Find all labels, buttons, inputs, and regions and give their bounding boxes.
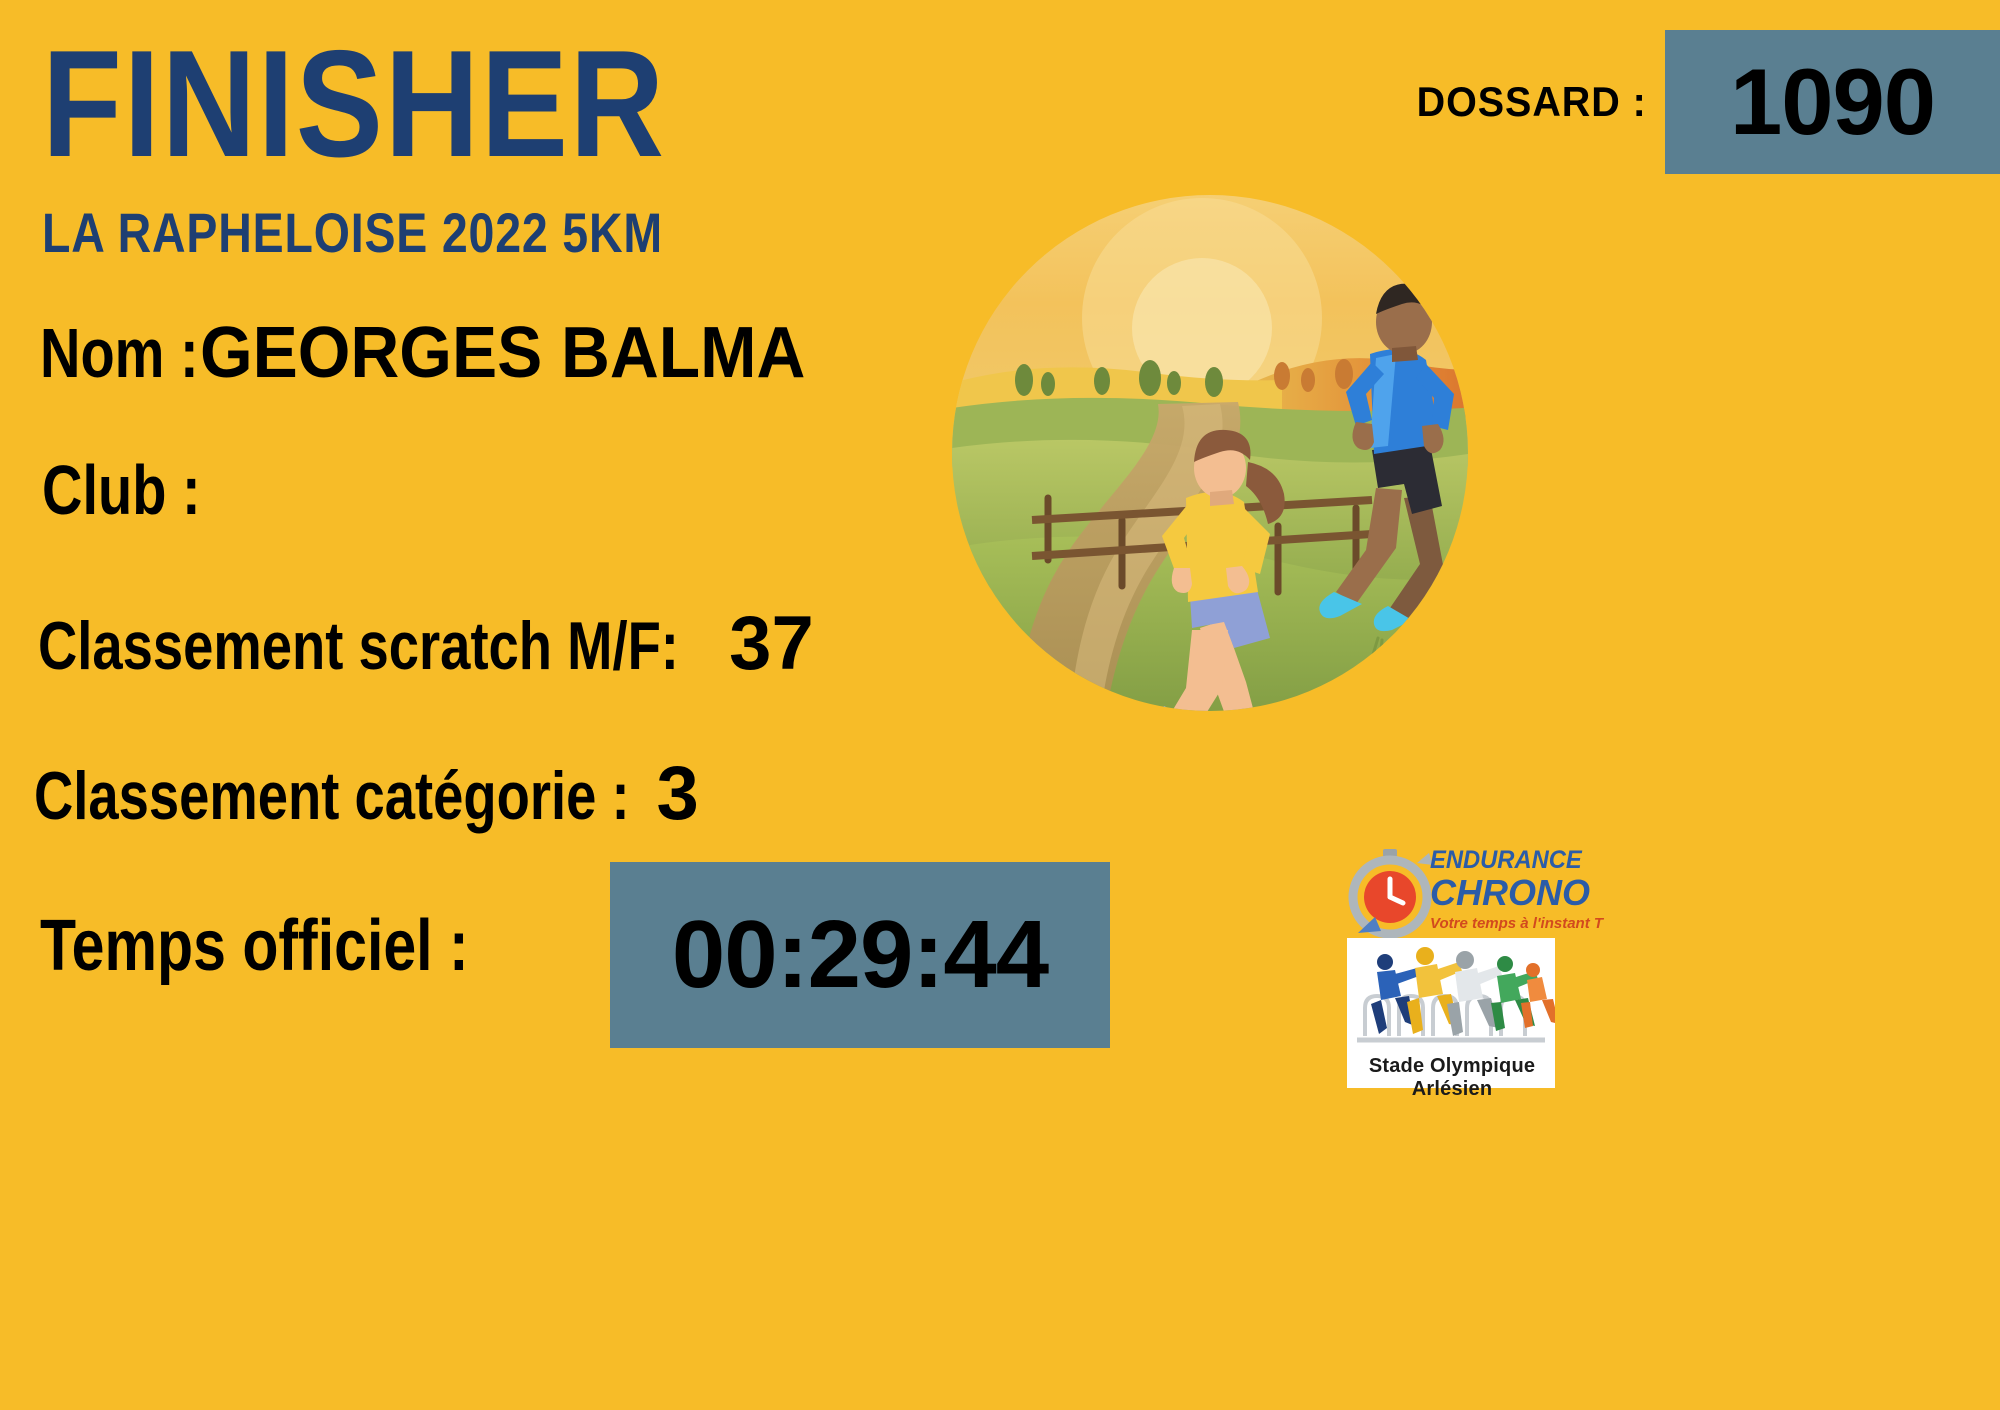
page-title: FINISHER: [42, 28, 666, 180]
category-rank-label: Classement catégorie :: [34, 757, 630, 835]
category-rank-value: 3: [657, 750, 699, 837]
chrono-word: CHRONO: [1430, 875, 1603, 911]
runners-illustration-icon: [952, 168, 1482, 738]
club-label: Club :: [42, 450, 201, 530]
scratch-rank-label: Classement scratch M/F:: [38, 607, 679, 685]
endurance-chrono-wordmark: ENDURANCE CHRONO Votre temps à l'instant…: [1430, 848, 1603, 931]
scratch-rank-value: 37: [729, 600, 814, 687]
endurance-word: ENDURANCE: [1430, 848, 1594, 873]
bib-label: DOSSARD :: [1417, 78, 1647, 126]
bib-row: DOSSARD : 1090: [1402, 30, 2000, 174]
field-row-category-rank: Classement catégorie : 3: [34, 750, 699, 837]
nom-value: GEORGES BALMA: [200, 312, 805, 394]
official-time-box: 00:29:44: [610, 862, 1110, 1048]
bib-number-box: 1090: [1665, 30, 2000, 174]
stade-olympique-arlesien-caption: Stade Olympique Arlésien: [1344, 1055, 1560, 1101]
official-time-label: Temps officiel :: [40, 905, 469, 987]
bib-number: 1090: [1730, 55, 1935, 149]
nom-label: Nom :: [40, 313, 199, 393]
field-row-nom: Nom : GEORGES BALMA: [40, 312, 844, 394]
official-time-row: Temps officiel :: [40, 905, 563, 987]
event-subtitle: LA RAPHELOISE 2022 5KM: [42, 205, 663, 261]
official-time-value: 00:29:44: [672, 900, 1048, 1010]
field-row-scratch-rank: Classement scratch M/F: 37: [38, 600, 814, 687]
field-row-club: Club :: [42, 450, 260, 530]
chrono-tagline: Votre temps à l'instant T: [1430, 916, 1603, 931]
